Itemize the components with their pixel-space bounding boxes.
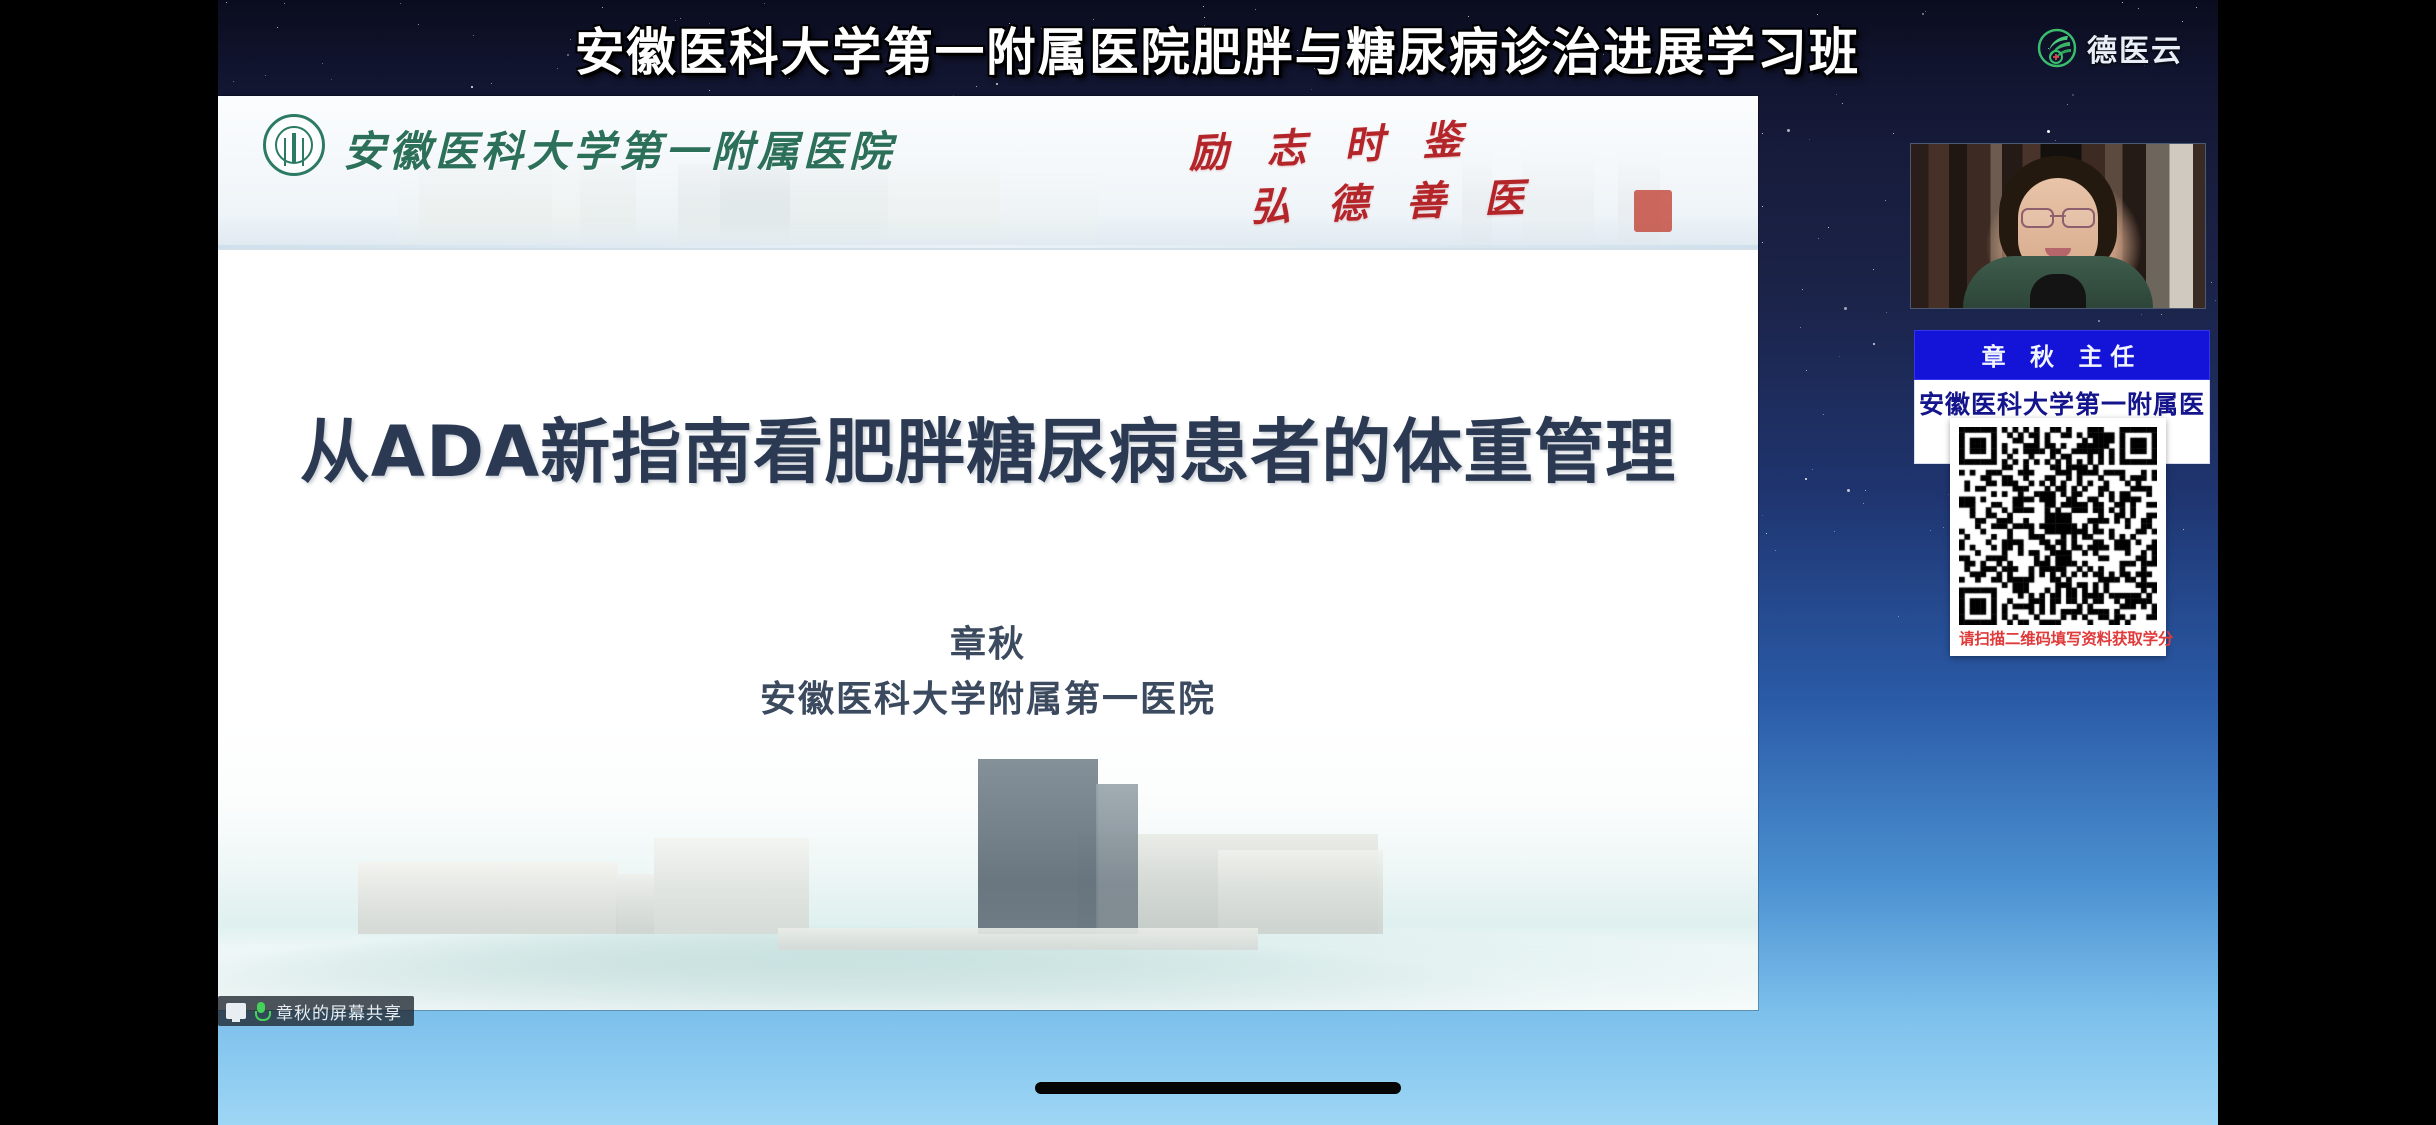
microphone-icon — [254, 1002, 268, 1020]
red-seal-icon — [1634, 190, 1672, 232]
registration-qr-card[interactable]: 请扫描二维码填写资料获取学分 — [1950, 418, 2166, 656]
slide-body: 从ADA新指南看肥胖糖尿病患者的体重管理 章秋 安徽医科大学附属第一医院 — [218, 250, 1758, 1010]
qr-caption: 请扫描二维码填写资料获取学分 — [1959, 625, 2157, 652]
hospital-motto: 励 志 时 鉴 弘 德 善 医 — [1188, 108, 1608, 238]
shared-slide[interactable]: 安徽医科大学第一附属医院 励 志 时 鉴 弘 德 善 医 从ADA新指南看肥胖糖… — [218, 96, 1758, 1010]
webcam-collar — [2030, 274, 2086, 308]
motto-line-2: 弘 德 善 医 — [1249, 165, 1537, 233]
speaker-name: 章秋 — [218, 615, 1758, 667]
hospital-name: 安徽医科大学第一附属医院 — [343, 118, 895, 179]
speaker-organization: 安徽医科大学附属第一医院 — [218, 670, 1758, 722]
hospital-crest-icon — [263, 114, 325, 176]
event-title: 安徽医科大学第一附属医院肥胖与糖尿病诊治进展学习班 — [575, 11, 1860, 85]
right-rail: 章 秋 主任 安徽医科大学第一附属医院 请扫描二维码填写资料获取学分 — [1908, 0, 2218, 1125]
monitor-icon — [226, 1003, 246, 1019]
video-stage: 安徽医科大学第一附属医院肥胖与糖尿病诊治进展学习班 德医云 安徽医科大 — [218, 0, 2218, 1125]
nameplate-name: 章 秋 主任 — [1914, 330, 2210, 380]
hospital-campus-panorama — [218, 722, 1758, 1010]
mist-overlay — [218, 882, 1758, 1010]
screen-share-label: 章秋的屏幕共享 — [276, 999, 402, 1024]
eyeglasses-icon — [2021, 208, 2095, 225]
presenter-webcam-video[interactable] — [1910, 143, 2206, 309]
slide-title: 从ADA新指南看肥胖糖尿病患者的体重管理 — [218, 396, 1758, 497]
screen-share-indicator: 章秋的屏幕共享 — [218, 996, 414, 1026]
screen-root: 安徽医科大学第一附属医院肥胖与糖尿病诊治进展学习班 德医云 安徽医科大 — [0, 0, 2436, 1125]
registration-qr-code[interactable] — [1959, 427, 2157, 625]
home-indicator-bar[interactable] — [1035, 1082, 1401, 1094]
slide-header-band: 安徽医科大学第一附属医院 励 志 时 鉴 弘 德 善 医 — [218, 96, 1758, 250]
